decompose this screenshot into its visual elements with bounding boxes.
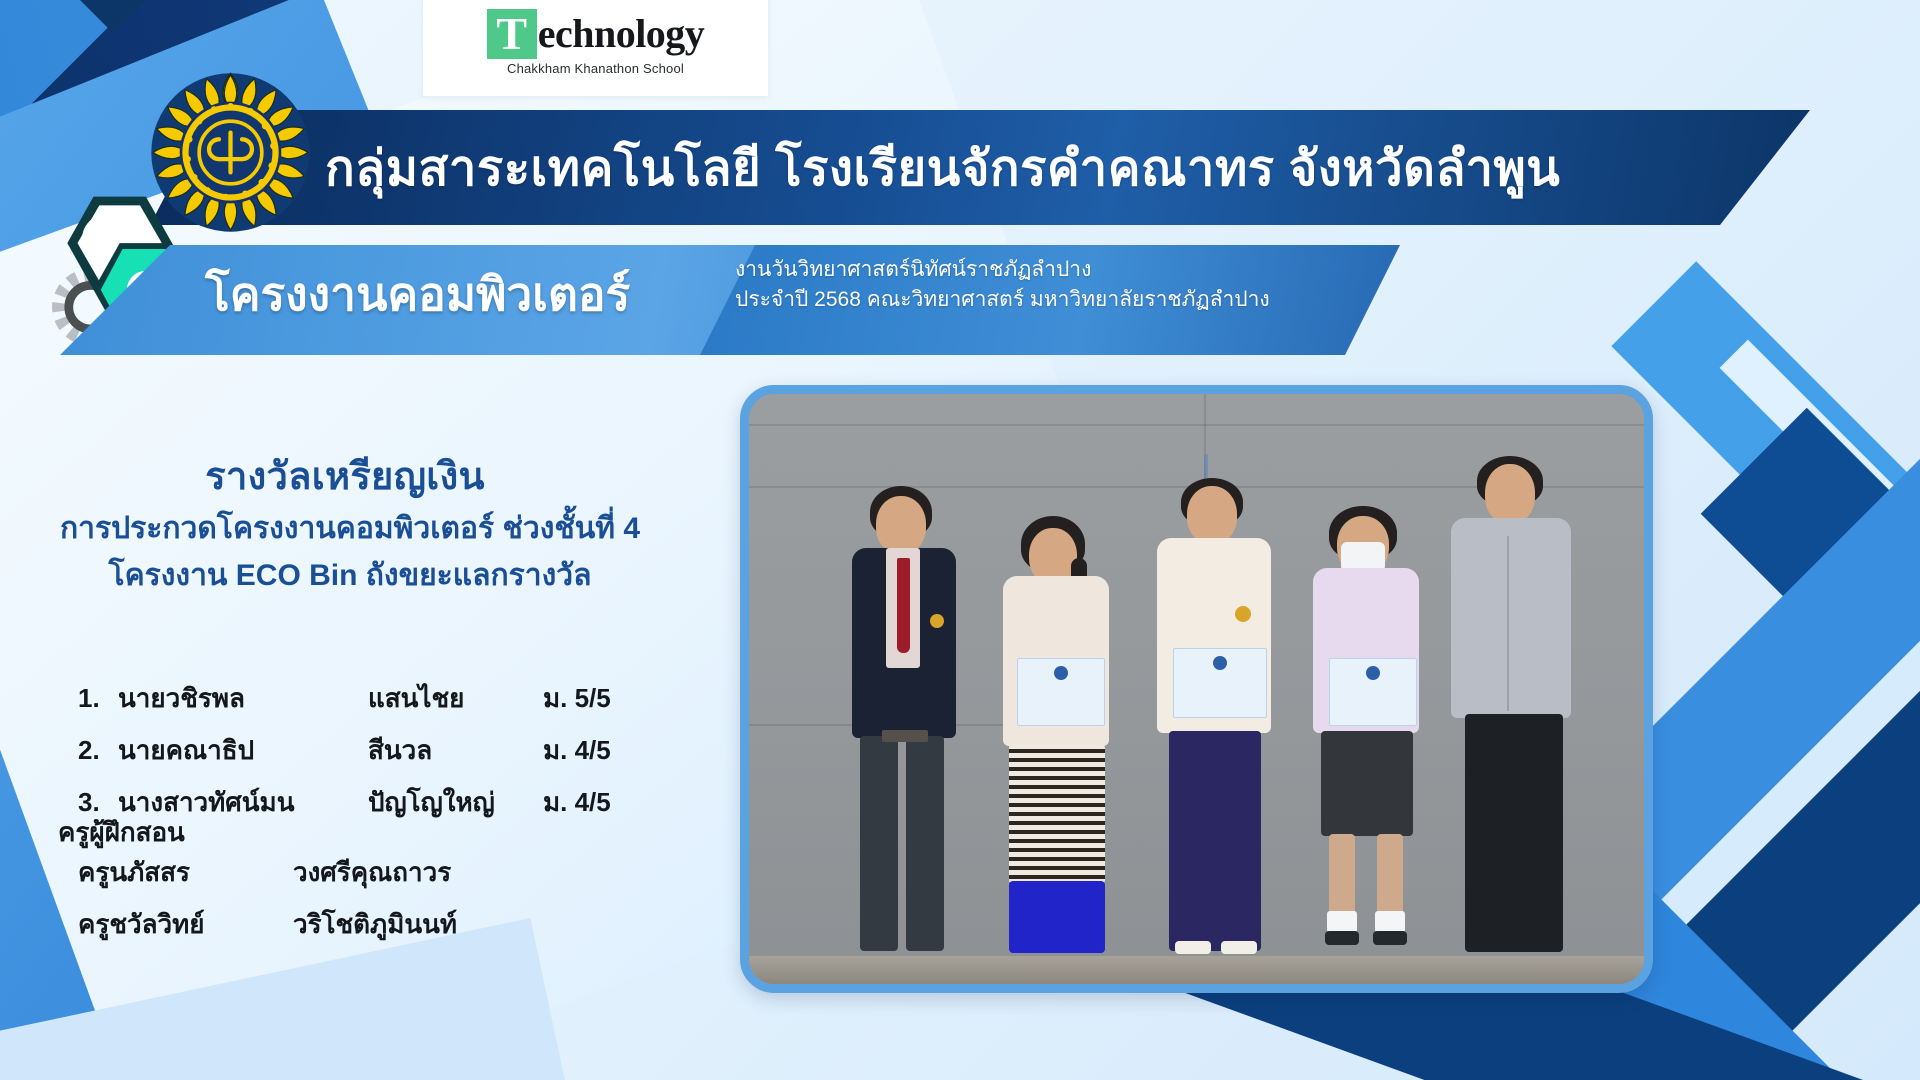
member-surname: แสนไชย — [368, 678, 543, 719]
award-medal-title: รางวัลเหรียญเงิน — [0, 445, 690, 506]
subheader-title: โครงงานคอมพิวเตอร์ — [205, 258, 630, 331]
member-list: 1. นายวชิรพล แสนไชย ม. 5/5 2. นายคณาธิป … — [78, 678, 738, 834]
event-line-1: งานวันวิทยาศาสตร์นิทัศน์ราชภัฏลำปาง — [735, 255, 1270, 285]
member-surname: ปัญโญใหญ่ — [368, 782, 543, 823]
technology-logo-box: T echnology Chakkham Khanathon School — [423, 0, 768, 96]
award-photo-frame — [740, 385, 1653, 993]
photo-person-5 — [1439, 456, 1589, 956]
certificate — [1329, 658, 1417, 726]
member-name: นายวชิรพล — [118, 678, 368, 719]
technology-wordmark: echnology — [538, 10, 705, 57]
page-title: กลุ่มสาระเทคโนโลยี โรงเรียนจักรคำคณาทร จ… — [325, 129, 1560, 207]
photo-person-2 — [987, 506, 1127, 956]
list-item: 1. นายวชิรพล แสนไชย ม. 5/5 — [78, 678, 738, 719]
photo-ground — [749, 956, 1644, 984]
t-badge-icon: T — [487, 9, 537, 59]
member-grade: ม. 5/5 — [543, 678, 653, 719]
certificate — [1017, 658, 1105, 726]
member-grade: ม. 4/5 — [543, 730, 653, 771]
teacher-surname: วงศรีคุณถาวร — [293, 852, 623, 893]
teacher-surname: วริโชติภูมินนท์ — [293, 904, 623, 945]
certificate — [1173, 648, 1267, 718]
photo-person-1 — [834, 486, 974, 956]
teacher-name: ครูนภัสสร — [78, 852, 293, 893]
list-item: ครูชวัลวิทย์ วริโชติภูมินนท์ — [78, 904, 678, 945]
award-photo — [749, 394, 1644, 984]
teachers-heading: ครูผู้ฝึกสอน — [58, 812, 185, 853]
member-number: 2. — [78, 735, 118, 766]
member-number: 1. — [78, 683, 118, 714]
award-competition: การประกวดโครงงานคอมพิวเตอร์ ช่วงชั้นที่ … — [0, 505, 700, 552]
poster-root: T echnology Chakkham Khanathon School กล… — [0, 0, 1920, 1080]
list-item: ครูนภัสสร วงศรีคุณถาวร — [78, 852, 678, 893]
teacher-name: ครูชวัลวิทย์ — [78, 904, 293, 945]
technology-logo-row: T echnology — [487, 9, 705, 59]
teacher-list: ครูนภัสสร วงศรีคุณถาวร ครูชวัลวิทย์ วริโ… — [78, 852, 678, 956]
member-name: นายคณาธิป — [118, 730, 368, 771]
list-item: 2. นายคณาธิป สีนวล ม. 4/5 — [78, 730, 738, 771]
member-surname: สีนวล — [368, 730, 543, 771]
header-banner: กลุ่มสาระเทคโนโลยี โรงเรียนจักรคำคณาทร จ… — [150, 110, 1810, 225]
event-line-2: ประจำปี 2568 คณะวิทยาศาสตร์ มหาวิทยาลัยร… — [735, 285, 1270, 315]
event-info: งานวันวิทยาศาสตร์นิทัศน์ราชภัฏลำปาง ประจ… — [735, 255, 1270, 316]
member-grade: ม. 4/5 — [543, 782, 653, 823]
school-name-subtitle: Chakkham Khanathon School — [507, 61, 684, 76]
photo-person-4 — [1297, 506, 1437, 956]
award-project: โครงงาน ECO Bin ถังขยะแลกรางวัล — [0, 552, 700, 599]
photo-person-3 — [1141, 478, 1291, 956]
